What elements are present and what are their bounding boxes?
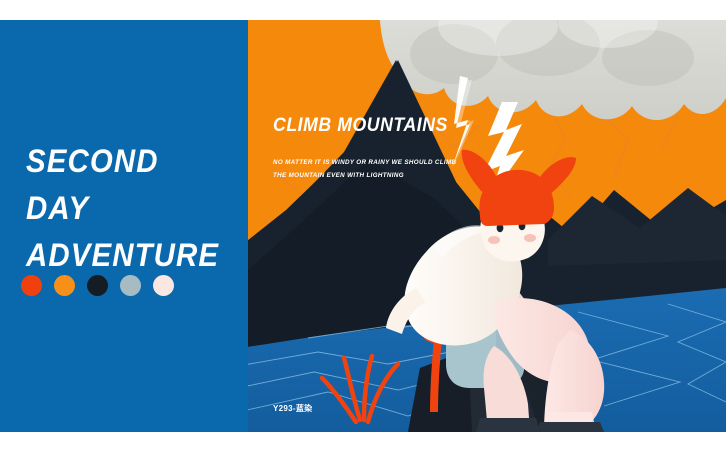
boot-front [536, 422, 604, 432]
watermark-credit: Y293-蓝染 [273, 403, 312, 414]
swatch-red-orange[interactable] [21, 275, 42, 296]
subtext-line-1: NO MATTER IT IS WINDY OR RAINY WE SHOULD… [273, 159, 456, 166]
page-title: SECOND DAY ADVENTURE [26, 138, 221, 279]
swatch-gray-blue[interactable] [120, 275, 141, 296]
title-panel: SECOND DAY ADVENTURE [0, 20, 248, 432]
color-swatch-row [21, 275, 174, 296]
cheek-right [524, 234, 536, 242]
swatch-dark-navy[interactable] [87, 275, 108, 296]
cheek-left [488, 236, 500, 244]
foot-highlight [546, 412, 594, 422]
swatch-orange[interactable] [54, 275, 75, 296]
subtext-line-2: THE MOUNTAIN EVEN WITH LIGHTNING [273, 172, 404, 179]
headline: CLIMB MOUNTAINS [273, 115, 448, 137]
swatch-off-white[interactable] [153, 275, 174, 296]
climber-illustration [248, 20, 726, 432]
boot-rear [476, 418, 540, 432]
illustration-panel: CLIMB MOUNTAINS NO MATTER IT IS WINDY OR… [248, 20, 726, 432]
poster-canvas: CLIMB MOUNTAINS NO MATTER IT IS WINDY OR… [0, 20, 726, 432]
